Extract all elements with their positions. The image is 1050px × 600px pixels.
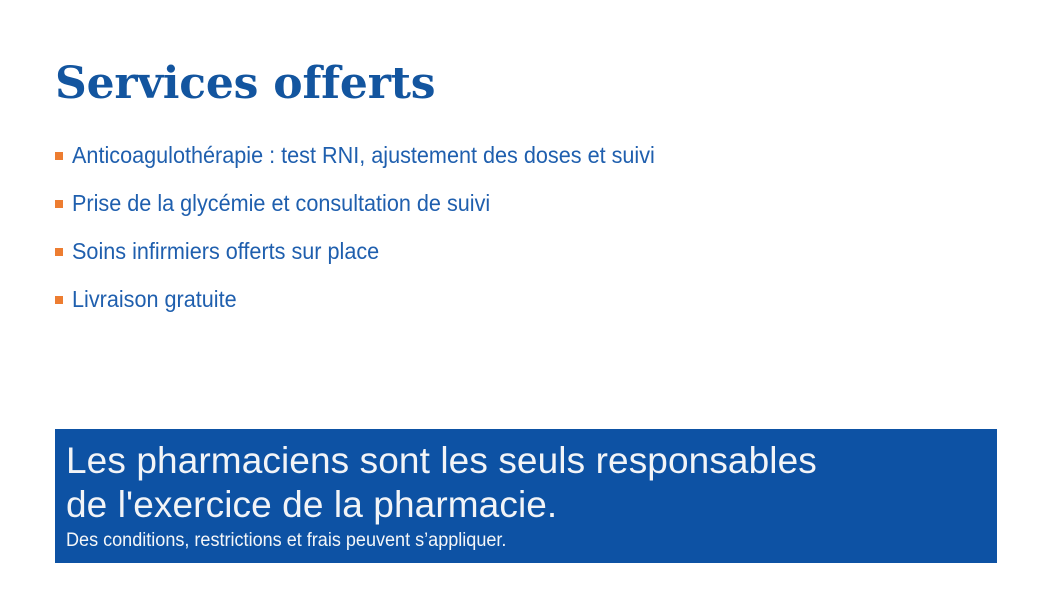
square-bullet-icon — [55, 200, 63, 208]
disclaimer-callout-banner: Les pharmaciens sont les seuls responsab… — [55, 429, 997, 563]
slide-canvas: Services offerts Anticoagulothérapie : t… — [0, 0, 1050, 600]
page-title: Services offerts — [55, 58, 435, 110]
square-bullet-icon — [55, 152, 63, 160]
list-item-label: Anticoagulothérapie : test RNI, ajusteme… — [72, 140, 655, 170]
list-item: Anticoagulothérapie : test RNI, ajusteme… — [55, 140, 975, 188]
list-item-label: Soins infirmiers offerts sur place — [72, 236, 379, 266]
callout-headline-line-2: de l'exercice de la pharmacie. — [66, 483, 997, 527]
list-item-label: Livraison gratuite — [72, 284, 237, 314]
list-item: Livraison gratuite — [55, 284, 975, 332]
callout-subline: Des conditions, restrictions et frais pe… — [66, 528, 950, 554]
list-item: Prise de la glycémie et consultation de … — [55, 188, 975, 236]
square-bullet-icon — [55, 296, 63, 304]
callout-headline-line-1: Les pharmaciens sont les seuls responsab… — [66, 439, 997, 483]
square-bullet-icon — [55, 248, 63, 256]
list-item: Soins infirmiers offerts sur place — [55, 236, 975, 284]
list-item-label: Prise de la glycémie et consultation de … — [72, 188, 490, 218]
services-bullet-list: Anticoagulothérapie : test RNI, ajusteme… — [55, 140, 975, 332]
